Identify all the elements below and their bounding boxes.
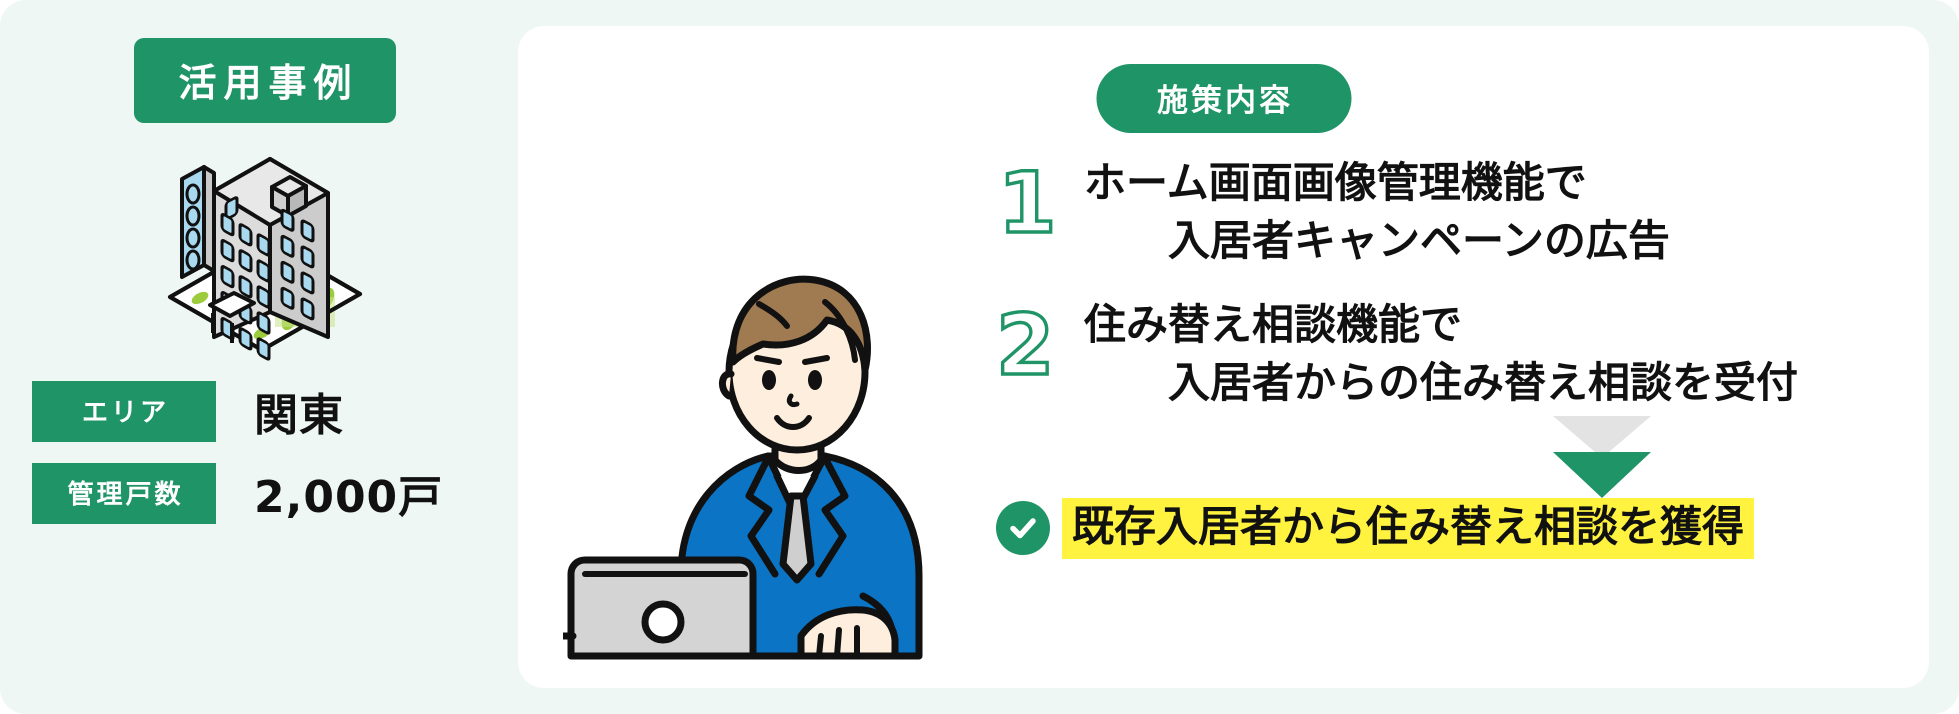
step-number-1-icon: 1 — [992, 154, 1084, 246]
case-summary-column: 活用事例 — [30, 26, 500, 688]
arrow-zone — [992, 412, 1899, 504]
stat-label-area: エリア — [32, 381, 216, 442]
policy-items-column: 1 ホーム画面画像管理機能で 入居者キャンペーンの広告 2 住み替え相談機能で — [978, 48, 1899, 668]
policy-detail-panel: 施策内容 — [518, 26, 1929, 688]
businessman-with-laptop-illustration — [548, 48, 978, 668]
policy-item-line: 入居者からの住み替え相談を受付 — [1084, 354, 1899, 412]
result-row: 既存入居者から住み替え相談を獲得 — [992, 498, 1899, 559]
stat-value-unit-count: 2,000戸 — [216, 461, 443, 525]
policy-item: 2 住み替え相談機能で 入居者からの住み替え相談を受付 — [992, 296, 1899, 412]
case-study-badge: 活用事例 — [134, 38, 396, 123]
policy-item-line: 入居者キャンペーンの広告 — [1084, 212, 1899, 270]
double-down-arrow-icon — [1547, 412, 1657, 504]
result-text: 既存入居者から住み替え相談を獲得 — [1062, 498, 1754, 559]
svg-text:2: 2 — [996, 300, 1054, 388]
policy-item-line: ホーム画面画像管理機能で — [1084, 154, 1899, 212]
case-study-infographic: 活用事例 — [0, 0, 1959, 714]
stats-list: エリア 関東 管理戸数 2,000戸 — [30, 379, 500, 525]
apartment-building-icon — [30, 133, 500, 365]
stat-row: 管理戸数 2,000戸 — [32, 461, 500, 525]
svg-text:1: 1 — [998, 158, 1056, 246]
check-circle-icon — [996, 501, 1050, 555]
stat-value-area: 関東 — [216, 379, 344, 443]
step-number-2-icon: 2 — [992, 296, 1084, 388]
policy-item: 1 ホーム画面画像管理機能で 入居者キャンペーンの広告 — [992, 154, 1899, 270]
stat-label-unit-count: 管理戸数 — [32, 463, 216, 524]
policy-item-text: 住み替え相談機能で 入居者からの住み替え相談を受付 — [1084, 296, 1899, 412]
policy-item-text: ホーム画面画像管理機能で 入居者キャンペーンの広告 — [1084, 154, 1899, 270]
stat-row: エリア 関東 — [32, 379, 500, 443]
policy-item-line: 住み替え相談機能で — [1084, 296, 1899, 354]
